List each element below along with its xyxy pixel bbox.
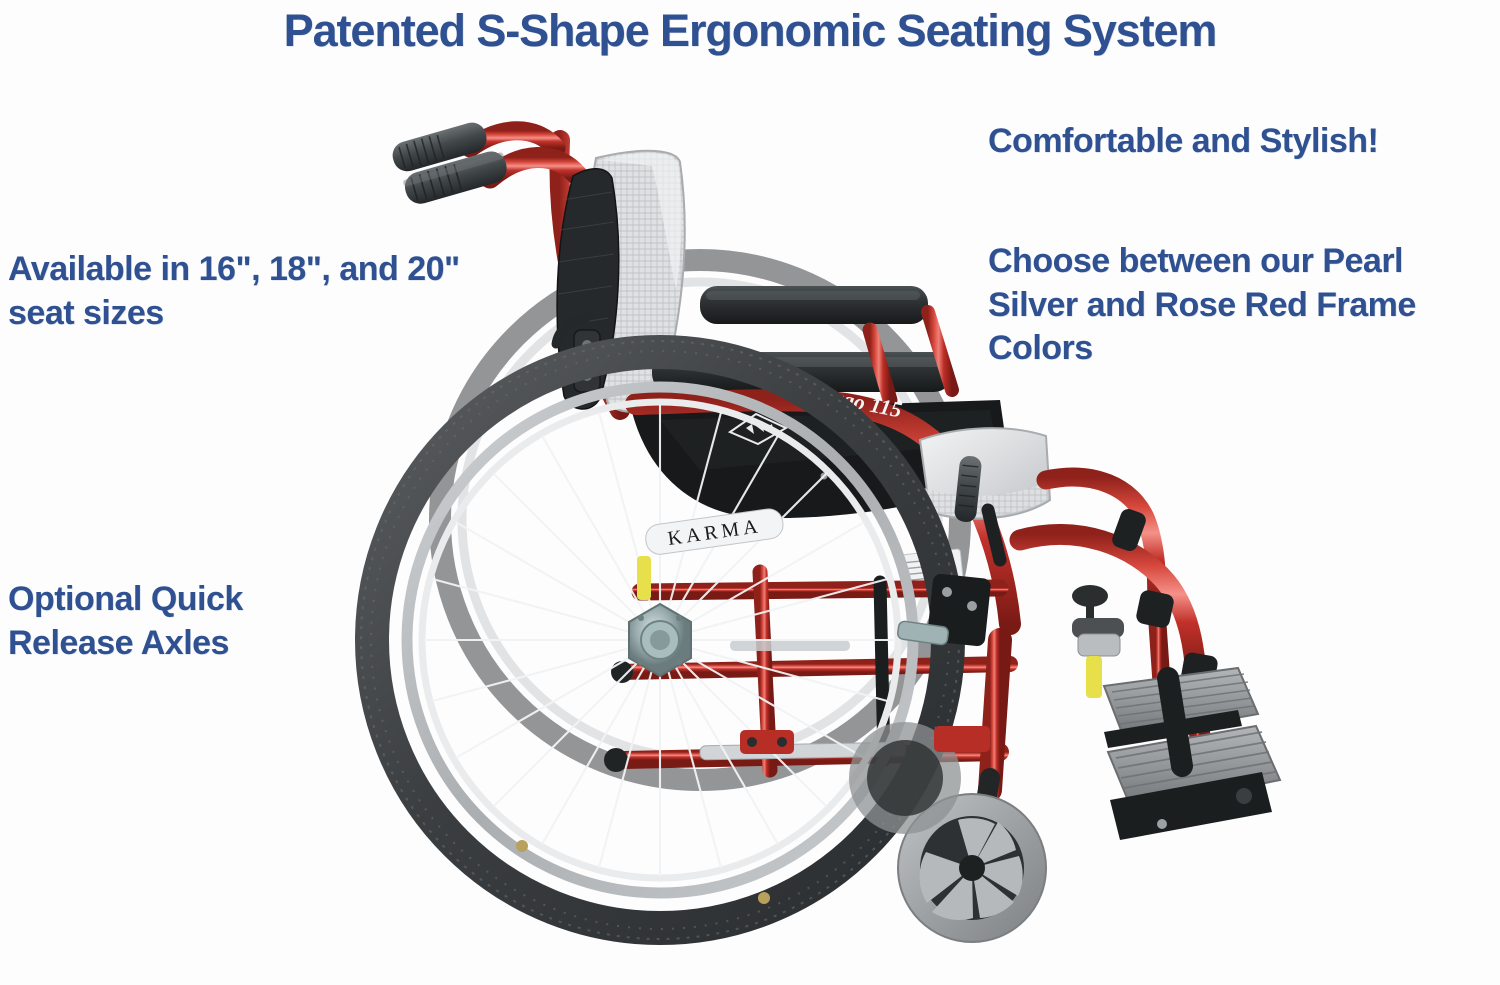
callout-seat-sizes: Available in 16", 18", and 20" seat size… [8,248,528,335]
callout-frame-colors: Choose between our Pearl Silver and Rose… [988,240,1498,371]
armrest-far [700,286,928,324]
heel-strap [1168,678,1182,766]
yellow-tab [637,556,651,600]
callout-quick-release-axles: Optional Quick Release Axles [8,578,368,665]
page-title: Patented S-Shape Ergonomic Seating Syste… [0,2,1500,60]
caster-fork [990,640,1000,790]
yellow-tab [1086,656,1102,698]
rear-wheel: KARMA [361,341,959,939]
legrest-knob[interactable] [1072,585,1124,656]
legrest-clamp [1135,589,1175,629]
product-marketing-image: S-Ergo 115 [0,0,1500,985]
callout-comfortable-stylish: Comfortable and Stylish! [988,120,1488,164]
wheel-brand-badge: KARMA [644,507,785,556]
